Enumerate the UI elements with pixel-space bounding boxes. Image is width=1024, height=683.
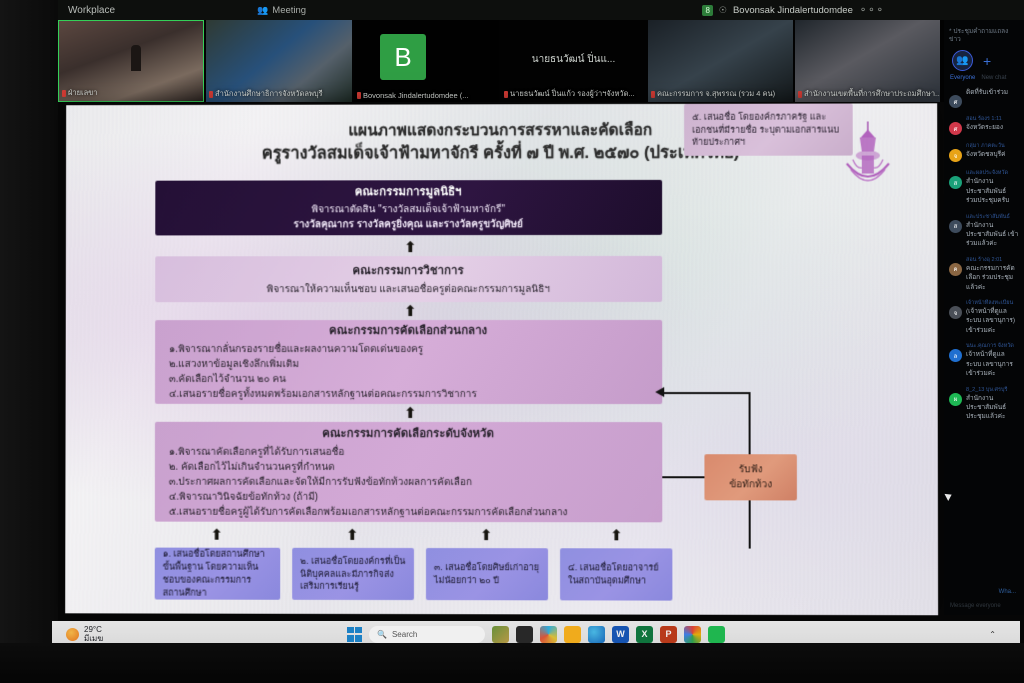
search-icon: 🔍: [377, 630, 387, 639]
up-arrow-icon: ⬆: [346, 528, 359, 543]
box-line: ๓.คัดเลือกไว้จำนวน ๒๐ คน: [169, 372, 648, 387]
box-line: ๑.พิจารณาคัดเลือกครูที่ได้รับการเสนอชื่อ: [169, 444, 648, 459]
up-arrow-icon: ⬆: [610, 528, 623, 543]
edge-icon[interactable]: [588, 626, 605, 643]
file-explorer-dark-icon[interactable]: [516, 626, 533, 643]
participant-name: Bovonsak Jindalertudomdee (...: [363, 91, 468, 100]
windows-start-icon[interactable]: [347, 627, 362, 642]
message-body: สำนักงานประชาสัมพันธ์ เข้าร่วมแล้วค่ะ: [966, 221, 1019, 249]
video-thumbnail[interactable]: B Bovonsak Jindalertudomdee (...: [354, 20, 499, 102]
mute-icon: [357, 92, 361, 99]
box-heading: คณะกรรมการวิชาการ: [165, 261, 652, 279]
participant-name: สำนักงานศึกษาธิการจังหวัดลพบุรี: [215, 88, 323, 100]
whatsapp-label[interactable]: Wha...: [999, 589, 1016, 595]
video-thumbnail-strip: ฝ่ายเลขา สำนักงานศึกษาธิการจังหวัดลพบุรี…: [58, 20, 944, 102]
weather-temp: 29°C: [84, 625, 103, 634]
central-selection-committee-box: คณะกรรมการคัดเลือกส่วนกลาง ๑.พิจารณากลั่…: [155, 320, 662, 404]
chevron-up-icon[interactable]: ⌃: [989, 630, 996, 639]
chat-message[interactable]: จ กลุ่มา ภาคตะวัน จังหวัดชลบุรีค่: [944, 140, 1024, 167]
up-arrow-icon: ⬆: [404, 240, 417, 255]
mute-icon: [651, 91, 655, 98]
center-name-label: นายธนวัฒน์ ปิ่นแ...: [501, 52, 646, 67]
message-body: จังหวัดชลบุรีค่: [966, 150, 1019, 159]
participant-count-badge: 8: [702, 5, 712, 16]
message-sender: นนะ.คุณการ จังหวัด: [966, 342, 1019, 350]
meeting-label: Meeting: [272, 5, 306, 16]
video-thumbnail[interactable]: นายธนวัฒน์ ปิ่นแ... นายธนวัฒน์ ปิ่นแก้ว …: [501, 20, 646, 102]
excel-icon[interactable]: X: [636, 626, 653, 643]
box-line: ๑. เสนอชื่อโดยสถานศึกษาขั้นพื้นฐาน โดยคว…: [163, 548, 273, 599]
people-icon: 👥: [257, 5, 268, 16]
message-body: สำนักงานประชาสัมพันธ์ ร่วมประชุมครับ: [966, 177, 1019, 205]
provincial-selection-committee-box: คณะกรรมการคัดเลือกระดับจังหวัด ๑.พิจารณา…: [155, 422, 663, 523]
chat-message[interactable]: จ เจ้าหน้าที่ลงทะเบียน (เจ้าหน้าที่ดูแลร…: [944, 297, 1024, 340]
chat-message[interactable]: ค สอน ร้างอุ 2:01 คณะกรรมการคัดเลือก ร่ว…: [944, 254, 1024, 297]
box-line: ๓. เสนอชื่อโดยศิษย์เก่าอายุไม่น้อยกว่า ๒…: [434, 561, 540, 587]
thumbnail-name-label: สำนักงานศึกษาธิการจังหวัดลพบุรี: [209, 88, 323, 100]
person-silhouette: [131, 45, 141, 71]
meeting-tab[interactable]: 👥 Meeting: [257, 5, 306, 16]
foundation-committee-box: คณะกรรมการมูลนิธิฯ พิจารณาตัดสิน "รางวัล…: [155, 180, 662, 236]
message-sender: สอน ร้องร 1:11: [966, 115, 1019, 123]
zoom-top-bar: Workplace 👥 Meeting 8 ☉ Bovonsak Jindale…: [58, 0, 1024, 20]
box-line: ๕.เสนอรายชื่อครูผู้ได้รับการคัดเลือกพร้อ…: [169, 504, 649, 520]
chat-message[interactable]: ผ 8_2_13 บุษ.ศรบุรี สำนักงานประชาสัมพันธ…: [944, 384, 1024, 427]
avatar: ล: [949, 349, 962, 362]
thumbnail-name-label: ฝ่ายเลขา: [62, 87, 98, 99]
message-body: สำนักงานประชาสัมพันธ์ ประชุมแล้วค่ะ: [966, 394, 1019, 422]
ellipsis-icon[interactable]: ⚬⚬⚬: [859, 5, 884, 16]
message-body: จังหวัดระยอง: [966, 123, 1019, 132]
photos-icon[interactable]: [492, 626, 509, 643]
avatar: ศ: [949, 95, 962, 108]
mute-icon: [62, 90, 66, 97]
everyone-icon[interactable]: 👥: [952, 50, 973, 71]
box-line: ๓.ประกาศผลการคัดเลือกและจัดให้มีการรับฟั…: [169, 474, 648, 490]
message-sender: เจ้าหน้าที่ลงทะเบียน: [966, 299, 1019, 307]
box-heading: คณะกรรมการคัดเลือกระดับจังหวัด: [169, 424, 648, 442]
box-line: ๒. คัดเลือกไว้ไม่เกินจำนวนครูที่กำหนด: [169, 459, 648, 474]
message-body: คณะกรรมการคัดเลือก ร่วมประชุมแล้วค่ะ: [966, 264, 1019, 292]
nominator-box: ๒. เสนอชื่อโดยองค์กรที่เป็นนิติบุคคลและม…: [292, 548, 414, 600]
weather-desc: มีเมฆ: [84, 634, 103, 643]
system-tray[interactable]: ⌃: [989, 630, 996, 639]
host-name-label: Bovonsak Jindalertudomdee: [733, 5, 853, 16]
shared-presentation-slide[interactable]: แผนภาพแสดงกระบวนการสรรหาและคัดเลือก ครูร…: [65, 103, 938, 615]
chat-sidebar[interactable]: * ประชุมคำถามแถลงข่าว 👥 + Everyone New c…: [944, 20, 1024, 615]
chat-message[interactable]: ศ ติดที่รับเข้าร่วม: [944, 86, 1024, 113]
powerpoint-icon[interactable]: P: [660, 626, 677, 643]
weather-widget[interactable]: 29°C มีเมฆ: [52, 625, 103, 643]
screen-photo: Workplace 👥 Meeting 8 ☉ Bovonsak Jindale…: [0, 0, 1024, 683]
box-heading: คณะกรรมการคัดเลือกส่วนกลาง: [169, 322, 648, 340]
plus-icon[interactable]: +: [983, 53, 991, 69]
participant-name: สำนักงานเขตพื้นที่การศึกษาประถมศึกษา...: [804, 88, 940, 100]
monitor-bezel-left: [0, 0, 58, 683]
avatar: จ: [949, 306, 962, 319]
thumbnail-name-label: คณะกรรมการ จ.สุพรรณ (รวม 4 คน): [651, 88, 775, 100]
participant-name: คณะกรรมการ จ.สุพรรณ (รวม 4 คน): [657, 88, 775, 100]
chat-message[interactable]: ส และผลประจังหวัด สำนักงานประชาสัมพันธ์ …: [944, 167, 1024, 210]
box-heading: คณะกรรมการมูลนิธิฯ: [165, 183, 652, 202]
file-explorer-icon[interactable]: [564, 626, 581, 643]
line-icon[interactable]: [708, 626, 725, 643]
mute-icon: [209, 91, 213, 98]
avatar: ผ: [949, 393, 962, 406]
message-body: (เจ้าหน้าที่ดูแลระบบ เลขานุการ) เข้าร่วม…: [966, 307, 1019, 335]
participant-name: นายธนวัฒน์ ปิ่นแก้ว รองผู้ว่าฯจังหวัด...: [510, 88, 635, 100]
avatar: B: [380, 34, 426, 80]
nominator-box: ๔. เสนอชื่อโดยอาจารย์ในสถาบันอุดมศึกษา: [560, 548, 672, 600]
connector-line: [662, 476, 706, 478]
up-arrow-icon: ⬆: [211, 528, 224, 543]
chat-title: * ประชุมคำถามแถลงข่าว: [944, 20, 1024, 48]
avatar: จ: [949, 149, 962, 162]
connector-line: [749, 500, 751, 548]
word-icon[interactable]: W: [612, 626, 629, 643]
hearing-objection-box: รับฟัง ข้อทักท้วง: [704, 454, 796, 500]
chat-message[interactable]: ล นนะ.คุณการ จังหวัด เจ้าหน้าที่ดูแลระบบ…: [944, 340, 1024, 383]
thumbnail-name-label: นายธนวัฒน์ ปิ่นแก้ว รองผู้ว่าฯจังหวัด...: [504, 88, 635, 100]
box-line: ๔.เสนอรายชื่อครูทั้งหมดพร้อมเอกสารหลักฐา…: [169, 387, 648, 402]
box-line: ๒. เสนอชื่อโดยองค์กรที่เป็นนิติบุคคลและม…: [300, 555, 406, 594]
government-nominator-box: ๕. เสนอชื่อ โดยองค์กรภาครัฐ และเอกชนที่ม…: [684, 104, 853, 156]
workplace-label[interactable]: Workplace: [68, 5, 115, 16]
everyone-label: Everyone: [950, 75, 975, 81]
chat-message[interactable]: ส และประชาสัมพันธ์ สำนักงานประชาสัมพันธ์…: [944, 211, 1024, 254]
message-sender: สอน ร้างอุ 2:01: [966, 256, 1019, 264]
box-line: พิจารณาตัดสิน "รางวัลสมเด็จเจ้าฟ้ามหาจัก…: [165, 203, 652, 218]
avatar: ศ: [949, 122, 962, 135]
box-line: พิจารณาให้ความเห็นชอบ และเสนอชื่อครูต่อค…: [165, 281, 652, 296]
message-sender: 8_2_13 บุษ.ศรบุรี: [966, 386, 1019, 394]
box-line: ข้อทักท้วง: [729, 477, 772, 492]
message-input[interactable]: Message everyone: [944, 603, 1024, 609]
nominator-box: ๑. เสนอชื่อโดยสถานศึกษาขั้นพื้นฐาน โดยคว…: [155, 548, 281, 600]
chrome-icon[interactable]: [684, 626, 701, 643]
avatar: ค: [949, 263, 962, 276]
avatar: ส: [949, 176, 962, 189]
box-line: ๔.พิจารณาวินิจฉัยข้อทักท้วง (ถ้ามี): [169, 489, 649, 505]
sun-icon: [66, 628, 79, 641]
message-sender: และประชาสัมพันธ์: [966, 213, 1019, 221]
nominator-box: ๓. เสนอชื่อโดยศิษย์เก่าอายุไม่น้อยกว่า ๒…: [426, 548, 548, 600]
message-body: เจ้าหน้าที่ดูแลระบบ เลขานุการ เข้าร่วมค่…: [966, 350, 1019, 378]
monitor-bezel-bottom: [0, 643, 1024, 683]
academic-committee-box: คณะกรรมการวิชาการ พิจารณาให้ความเห็นชอบ …: [155, 256, 662, 302]
mute-icon: [504, 91, 508, 98]
box-line: ๕. เสนอชื่อ โดยองค์กรภาครัฐ และเอกชนที่ม…: [692, 110, 845, 149]
box-line: ๑.พิจารณากลั่นกรองรายชื่อและผลงานความโดด…: [169, 342, 648, 357]
video-thumbnail[interactable]: สำนักงานเขตพื้นที่การศึกษาประถมศึกษา...: [795, 20, 940, 102]
thumbnail-name-label: สำนักงานเขตพื้นที่การศึกษาประถมศึกษา...: [798, 88, 940, 100]
connector-line: [662, 392, 750, 394]
copilot-icon[interactable]: [540, 626, 557, 643]
chat-message[interactable]: ศ สอน ร้องร 1:11 จังหวัดระยอง: [944, 113, 1024, 140]
mic-icon: ☉: [719, 5, 727, 16]
up-arrow-icon: ⬆: [404, 304, 417, 319]
video-thumbnail[interactable]: ฝ่ายเลขา: [58, 20, 204, 102]
connector-line: [749, 392, 751, 456]
up-arrow-icon: ⬆: [480, 528, 493, 543]
box-line: รางวัลคุณากร รางวัลครูยิ่งคุณ และรางวัลค…: [165, 217, 652, 232]
box-line: รับฟัง: [739, 462, 763, 477]
avatar: ส: [949, 220, 962, 233]
mute-icon: [798, 91, 802, 98]
box-line: ๒.แสวงหาข้อมูลเชิงลึกเพิ่มเติม: [169, 357, 648, 372]
message-body: ติดที่รับเข้าร่วม: [966, 88, 1019, 97]
search-placeholder: Search: [392, 630, 417, 639]
video-thumbnail[interactable]: คณะกรรมการ จ.สุพรรณ (รวม 4 คน): [648, 20, 793, 102]
new-chat-label: New chat: [981, 75, 1006, 81]
participant-name: ฝ่ายเลขา: [68, 87, 98, 99]
left-arrow-icon: [654, 386, 668, 400]
search-input[interactable]: 🔍 Search: [369, 626, 485, 643]
thumbnail-name-label: Bovonsak Jindalertudomdee (...: [357, 91, 468, 100]
up-arrow-icon: ⬆: [404, 406, 417, 421]
box-line: ๔. เสนอชื่อโดยอาจารย์ในสถาบันอุดมศึกษา: [568, 562, 664, 588]
message-sender: กลุ่มา ภาคตะวัน: [966, 142, 1019, 150]
message-sender: และผลประจังหวัด: [966, 169, 1019, 177]
video-thumbnail[interactable]: สำนักงานศึกษาธิการจังหวัดลพบุรี: [206, 20, 352, 102]
